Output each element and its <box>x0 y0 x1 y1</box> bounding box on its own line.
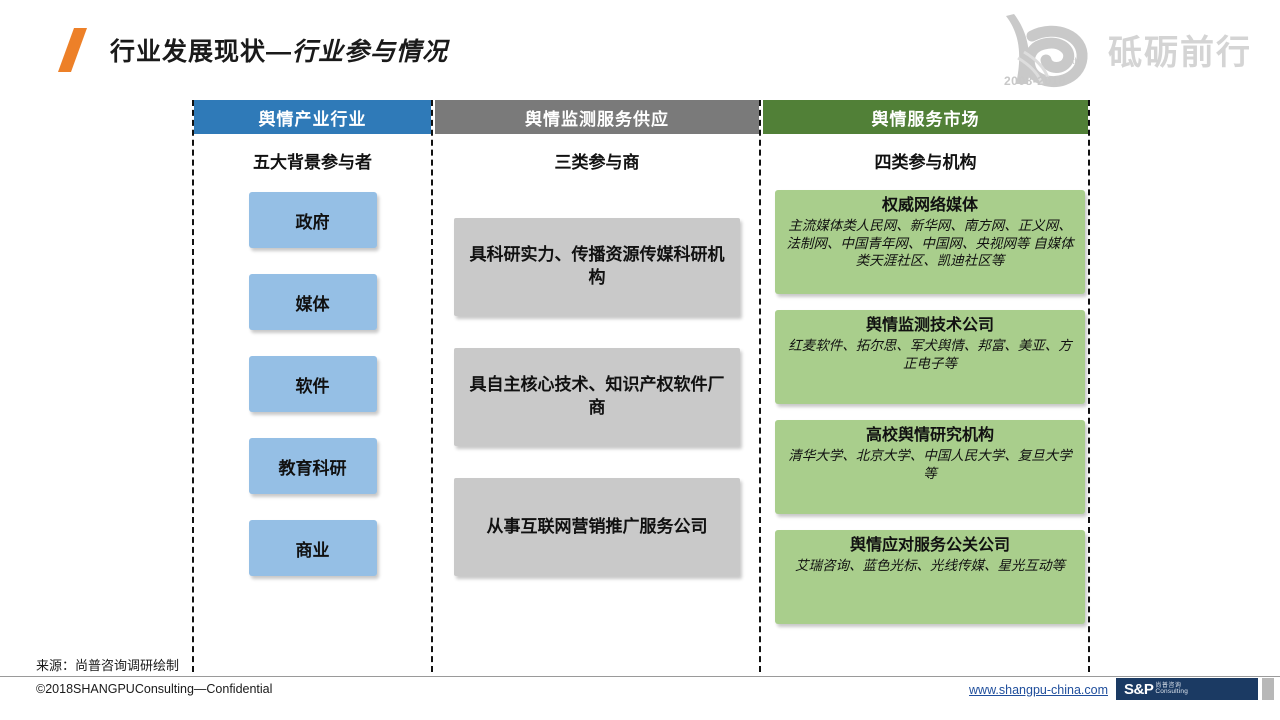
list-item-title: 权威网络媒体 <box>784 196 1076 216</box>
anniversary-mark-icon: th 2008-2018 <box>998 6 1102 92</box>
anniversary-years: 2008-2018 <box>1004 74 1066 88</box>
column-body-supply: 具科研实力、传播资源传媒科研机构 具自主核心技术、知识产权软件厂商 从事互联网营… <box>435 186 759 576</box>
website-link[interactable]: www.shangpu-china.com <box>969 683 1108 697</box>
title-main: 行业发展现状— <box>110 38 292 66</box>
footer-divider <box>0 676 1280 677</box>
column-header-supply: 舆情监测服务供应 <box>435 100 759 134</box>
column-supply: 舆情监测服务供应 三类参与商 具科研实力、传播资源传媒科研机构 具自主核心技术、… <box>435 100 761 672</box>
orange-slash-icon <box>60 28 94 72</box>
list-item[interactable]: 舆情监测技术公司 红麦软件、拓尔思、军犬舆情、邦富、美亚、方正电子等 <box>775 310 1085 404</box>
column-body-industry: 政府 媒体 软件 教育科研 商业 <box>194 186 431 576</box>
company-logo: S&P 尚普咨询 Consulting <box>1116 678 1258 700</box>
list-item[interactable]: 商业 <box>249 520 377 576</box>
list-item-body: 清华大学、北京大学、中国人民大学、复旦大学等 <box>784 447 1076 482</box>
column-header-industry: 舆情产业行业 <box>194 100 431 134</box>
page-title: 行业发展现状—行业参与情况 <box>60 28 448 72</box>
logo-main-text: S&P <box>1124 681 1153 698</box>
list-item[interactable]: 舆情应对服务公关公司 艾瑞咨询、蓝色光标、光线传媒、星光互动等 <box>775 530 1085 624</box>
list-item-body: 主流媒体类人民网、新华网、南方网、正义网、法制网、中国青年网、中国网、央视网等 … <box>784 217 1076 270</box>
column-subhead-market: 四类参与机构 <box>763 134 1088 186</box>
list-item[interactable]: 权威网络媒体 主流媒体类人民网、新华网、南方网、正义网、法制网、中国青年网、中国… <box>775 190 1085 294</box>
anniversary-watermark: th 2008-2018 砥砺前行 <box>998 6 1252 92</box>
list-item[interactable]: 软件 <box>249 356 377 412</box>
title-italic: 行业参与情况 <box>292 38 448 66</box>
column-subhead-supply: 三类参与商 <box>435 134 759 186</box>
logo-tail-block <box>1262 678 1274 700</box>
list-item[interactable]: 高校舆情研究机构 清华大学、北京大学、中国人民大学、复旦大学等 <box>775 420 1085 514</box>
source-note: 来源：尚普咨询调研绘制 <box>36 655 179 674</box>
column-header-market: 舆情服务市场 <box>763 100 1088 134</box>
column-body-market: 权威网络媒体 主流媒体类人民网、新华网、南方网、正义网、法制网、中国青年网、中国… <box>763 186 1088 624</box>
list-item[interactable]: 媒体 <box>249 274 377 330</box>
logo-sub: 尚普咨询 Consulting <box>1155 683 1188 696</box>
list-item-body: 红麦软件、拓尔思、军犬舆情、邦富、美亚、方正电子等 <box>784 337 1076 372</box>
column-industry: 舆情产业行业 五大背景参与者 政府 媒体 软件 教育科研 商业 <box>192 100 433 672</box>
list-item-body: 艾瑞咨询、蓝色光标、光线传媒、星光互动等 <box>784 557 1076 575</box>
list-item-title: 舆情监测技术公司 <box>784 316 1076 336</box>
logo-en-text: Consulting <box>1155 689 1188 696</box>
list-item[interactable]: 具科研实力、传播资源传媒科研机构 <box>454 218 740 316</box>
column-subhead-industry: 五大背景参与者 <box>194 134 431 186</box>
anniversary-ordinal: th <box>1072 56 1080 66</box>
copyright-text: ©2018SHANGPUConsulting—Confidential <box>36 682 272 696</box>
slide-root: 行业发展现状—行业参与情况 th 2008-2018 砥砺前行 舆情产业行业 五… <box>0 0 1280 720</box>
title-text: 行业发展现状—行业参与情况 <box>110 32 448 68</box>
column-market: 舆情服务市场 四类参与机构 权威网络媒体 主流媒体类人民网、新华网、南方网、正义… <box>763 100 1090 672</box>
list-item-title: 舆情应对服务公关公司 <box>784 536 1076 556</box>
list-item[interactable]: 教育科研 <box>249 438 377 494</box>
list-item[interactable]: 政府 <box>249 192 377 248</box>
anniversary-slogan: 砥砺前行 <box>1108 25 1252 74</box>
list-item-title: 高校舆情研究机构 <box>784 426 1076 446</box>
list-item[interactable]: 从事互联网营销推广服务公司 <box>454 478 740 576</box>
participants-matrix: 舆情产业行业 五大背景参与者 政府 媒体 软件 教育科研 商业 舆情监测服务供应… <box>192 100 1090 672</box>
list-item[interactable]: 具自主核心技术、知识产权软件厂商 <box>454 348 740 446</box>
